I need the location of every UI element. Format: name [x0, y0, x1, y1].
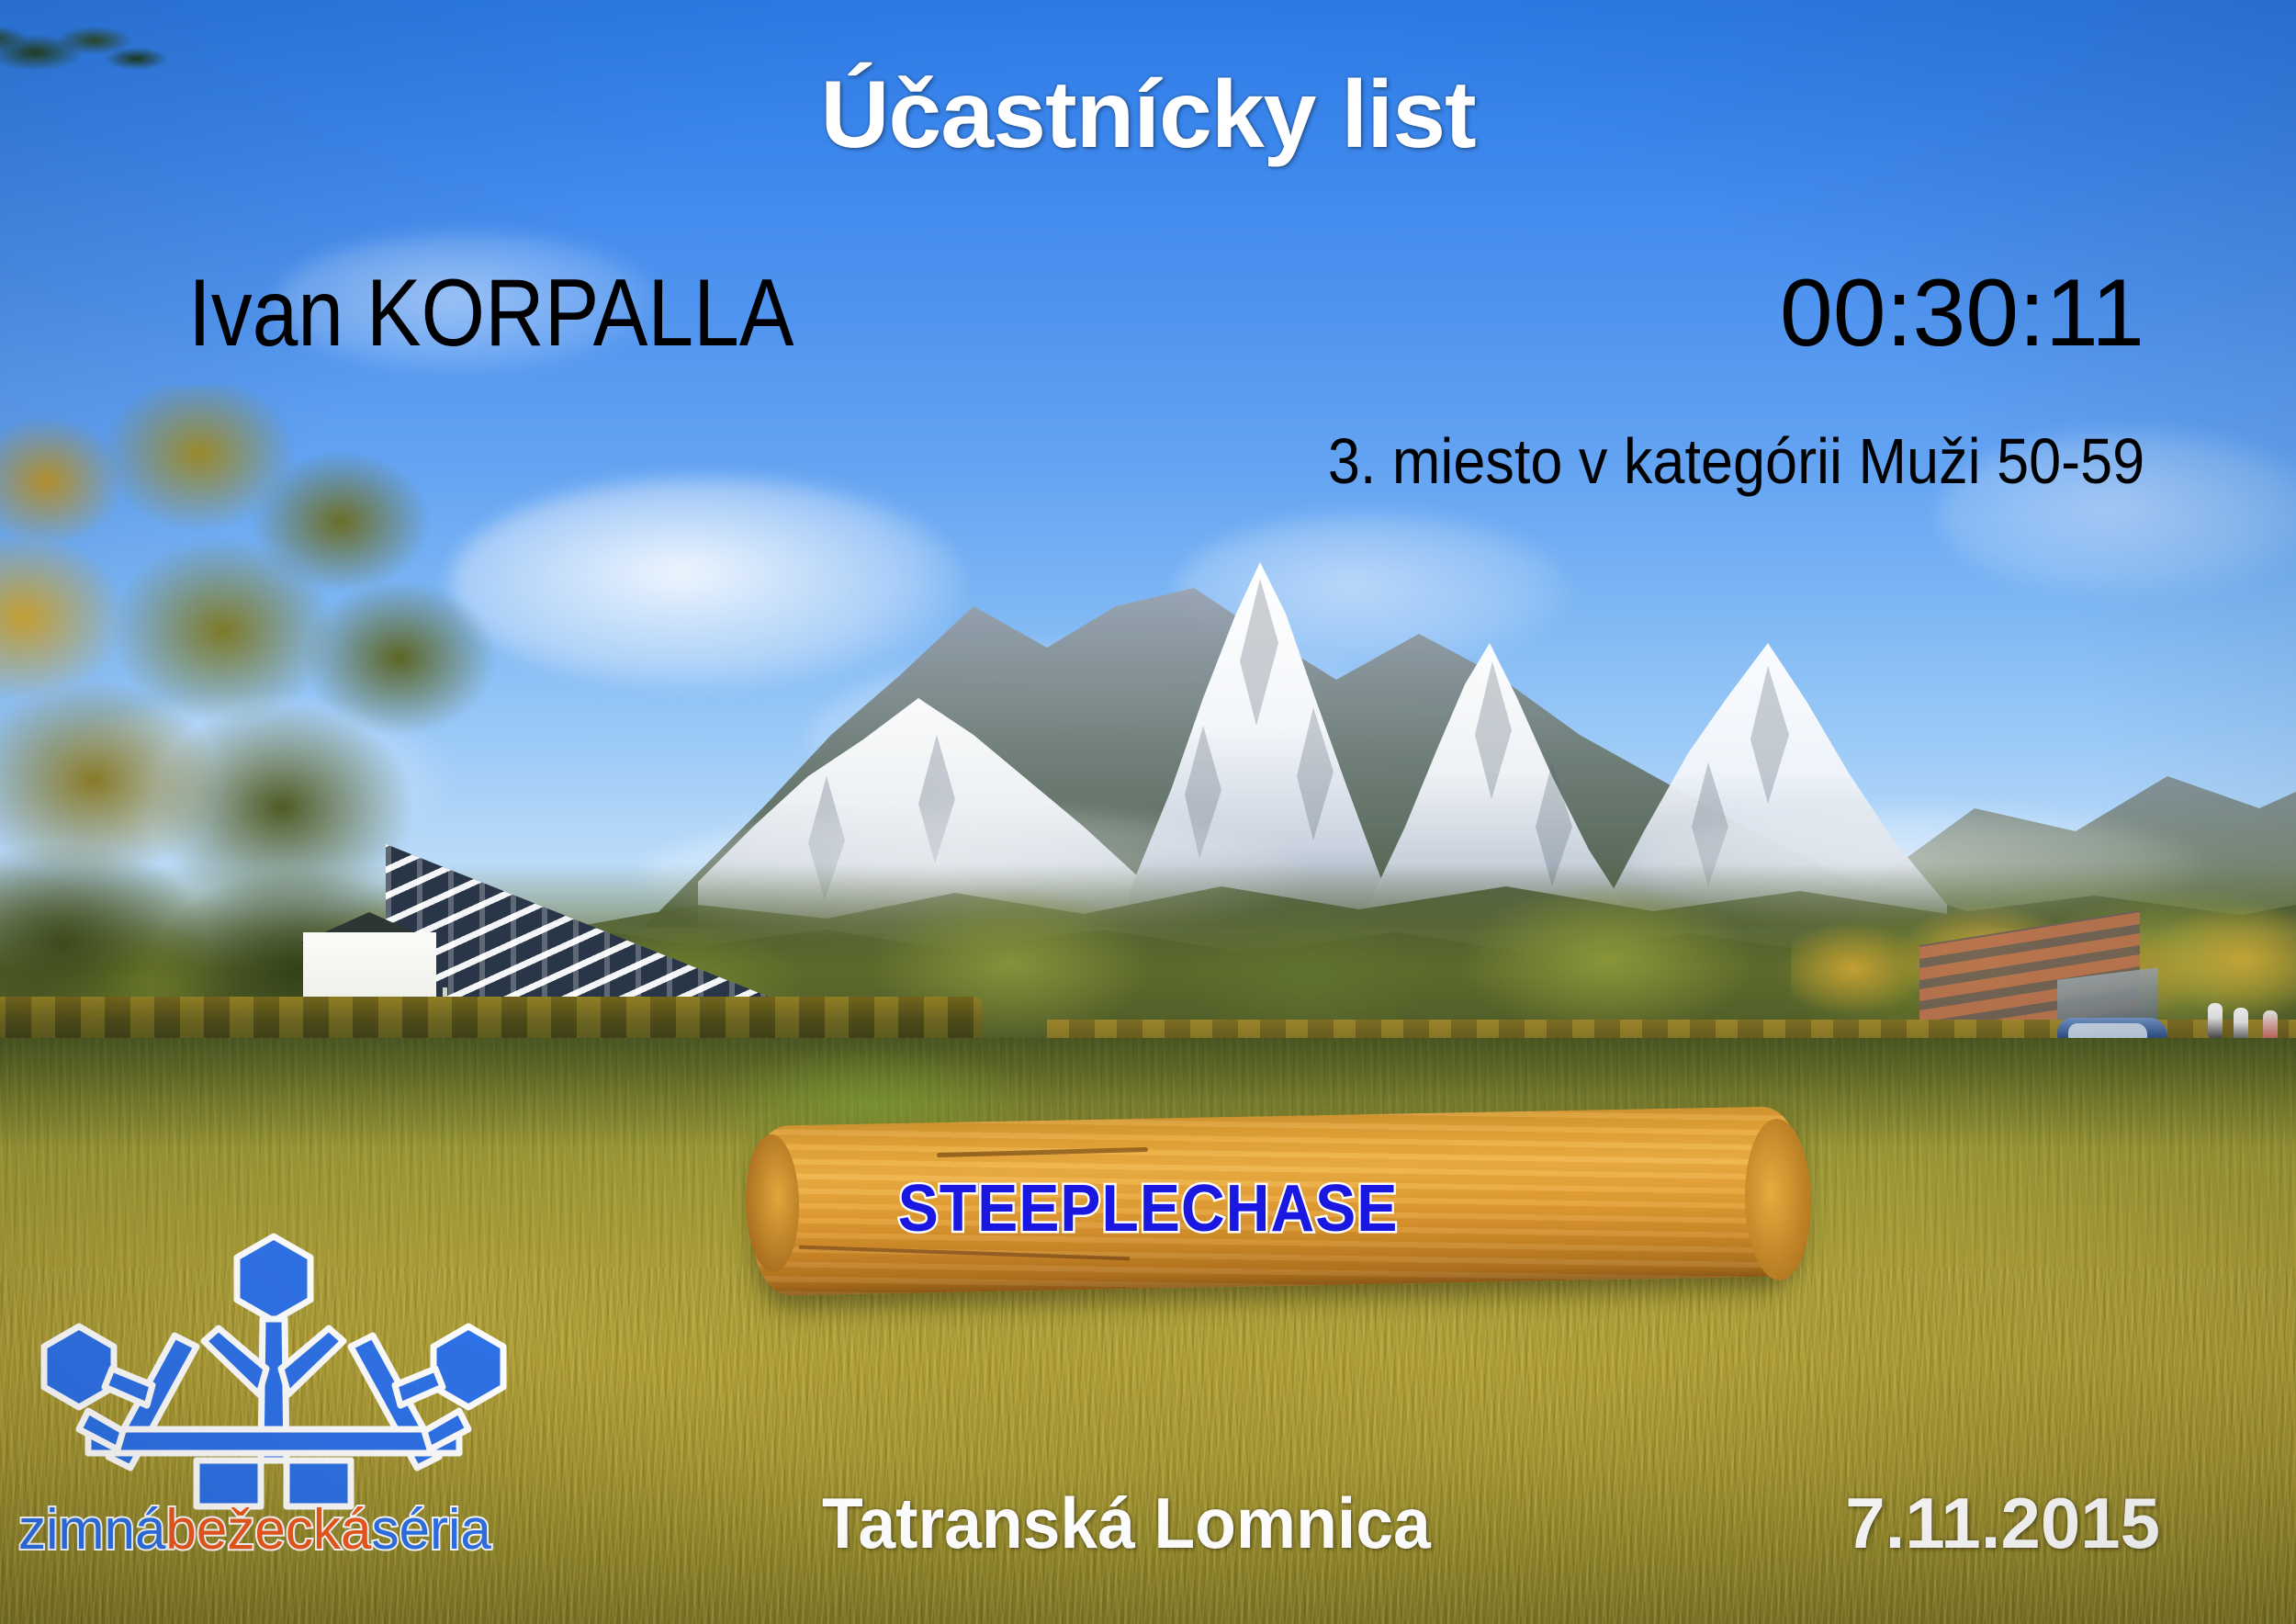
logo-word-zimna: zimná [18, 1498, 165, 1562]
car-window [2068, 1023, 2147, 1039]
logo-wordmark: zimnábežeckáséria [18, 1497, 491, 1562]
athlete-name: Ivan KORPALLA [188, 259, 794, 368]
participant-certificate-poster: Účastnícky list Ivan KORPALLA 00:30:11 3… [0, 0, 2296, 1624]
page-title: Účastnícky list [0, 61, 2296, 170]
finish-time: 00:30:11 [1780, 259, 2144, 368]
venue-name: Tatranská Lomnica [822, 1482, 1431, 1565]
spectator [2208, 1003, 2223, 1040]
snowflake-icon [35, 1231, 512, 1534]
logo-word-bezecka: bežecká [165, 1498, 371, 1562]
category-result: 3. miesto v kategórii Muži 50-59 [1328, 424, 2144, 498]
event-date: 7.11.2015 [1845, 1482, 2160, 1565]
logo-word-seria: séria [371, 1498, 490, 1562]
